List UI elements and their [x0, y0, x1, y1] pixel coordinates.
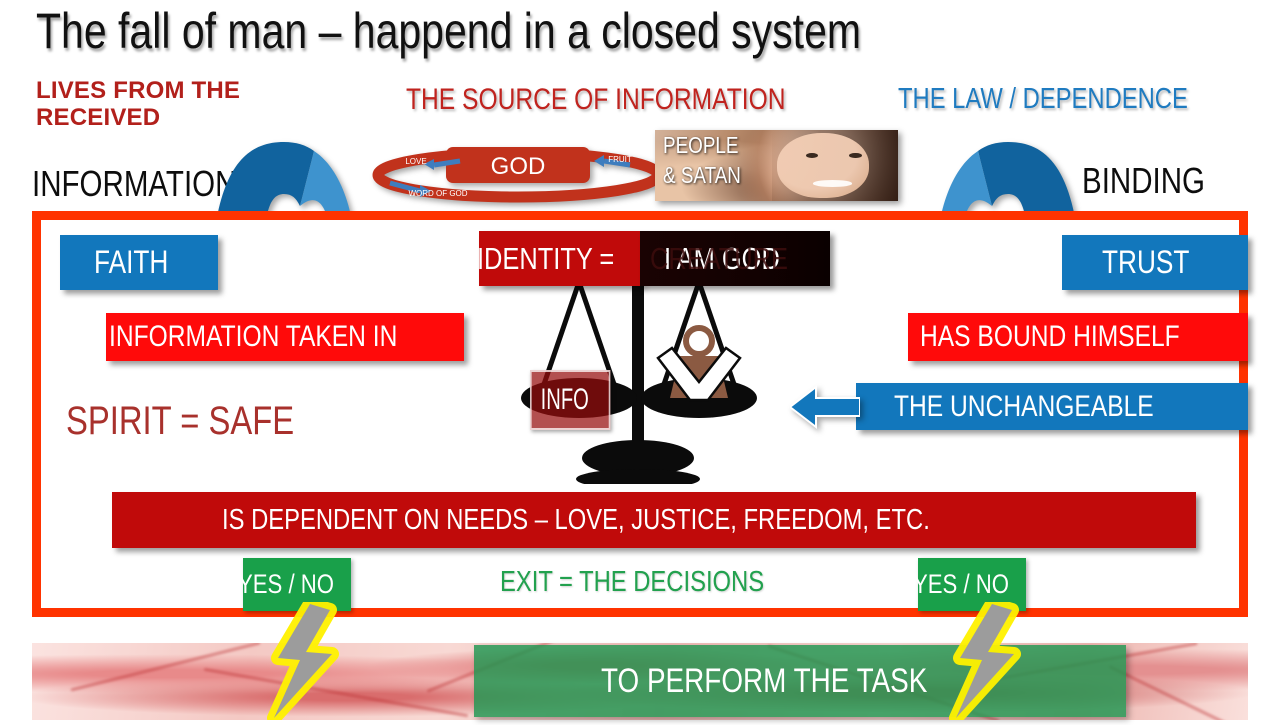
god-label: GOD [491, 153, 546, 180]
binding-label: BINDING [1082, 160, 1205, 202]
dependent-on-needs-label: IS DEPENDENT ON NEEDS – LOVE, JUSTICE, F… [222, 504, 930, 537]
identity-prefix-box: IDENTITY = [479, 231, 642, 286]
left-pointing-arrow-icon [790, 385, 860, 429]
faith-box[interactable]: FAITH [60, 235, 218, 290]
tissue-streak [1109, 665, 1241, 720]
fruit-label: FRUIT [608, 155, 632, 164]
information-taken-in-label: INFORMATION TAKEN IN [109, 320, 397, 354]
info-pan-label: INFO [530, 370, 610, 430]
source-of-information-label: THE SOURCE OF INFORMATION [406, 83, 785, 117]
photo-face [777, 133, 869, 198]
photo-eye-right [849, 153, 861, 158]
the-unchangeable-box[interactable]: THE UNCHANGEABLE [856, 383, 1248, 430]
has-bound-himself-box[interactable]: HAS BOUND HIMSELF [908, 313, 1248, 361]
people-and-satan-photo: PEOPLE & SATAN [655, 130, 898, 201]
tissue-streak [71, 643, 260, 691]
info-label: INFO [541, 383, 589, 417]
people-photo-line2: & SATAN [663, 162, 741, 188]
trust-label: TRUST [1102, 244, 1189, 281]
page-title: The fall of man – happend in a closed sy… [36, 6, 861, 56]
spirit-safe-label: SPIRIT = SAFE [66, 399, 294, 444]
yes-no-left-label: YES / NO [238, 569, 334, 600]
identity-value-label: I AM GOD [664, 241, 780, 277]
perform-task-label: TO PERFORM THE TASK [601, 662, 927, 701]
photo-smile [813, 180, 852, 186]
lives-from-received-label: LIVES FROM THE RECEIVED [36, 78, 306, 132]
identity-value-box: I AM GOD [640, 231, 830, 286]
the-unchangeable-label: THE UNCHANGEABLE [894, 390, 1154, 424]
people-photo-line1: PEOPLE [663, 132, 738, 158]
slide-canvas: The fall of man – happend in a closed sy… [0, 0, 1280, 720]
law-dependence-label: THE LAW / DEPENDENCE [898, 83, 1188, 116]
lightning-bolt-left-icon [258, 602, 348, 720]
identity-prefix-label: IDENTITY = [477, 241, 614, 277]
yes-no-right-label: YES / NO [913, 569, 1009, 600]
lightning-bolt-right-icon [940, 602, 1030, 720]
exit-decisions-label: EXIT = THE DECISIONS [500, 566, 764, 599]
faith-label: FAITH [94, 244, 168, 281]
has-bound-himself-label: HAS BOUND HIMSELF [920, 320, 1180, 354]
trust-box[interactable]: TRUST [1062, 235, 1248, 290]
photo-eye-left [806, 153, 818, 158]
information-taken-in-box[interactable]: INFORMATION TAKEN IN [106, 313, 464, 361]
dependent-on-needs-box[interactable]: IS DEPENDENT ON NEEDS – LOVE, JUSTICE, F… [112, 492, 1196, 548]
